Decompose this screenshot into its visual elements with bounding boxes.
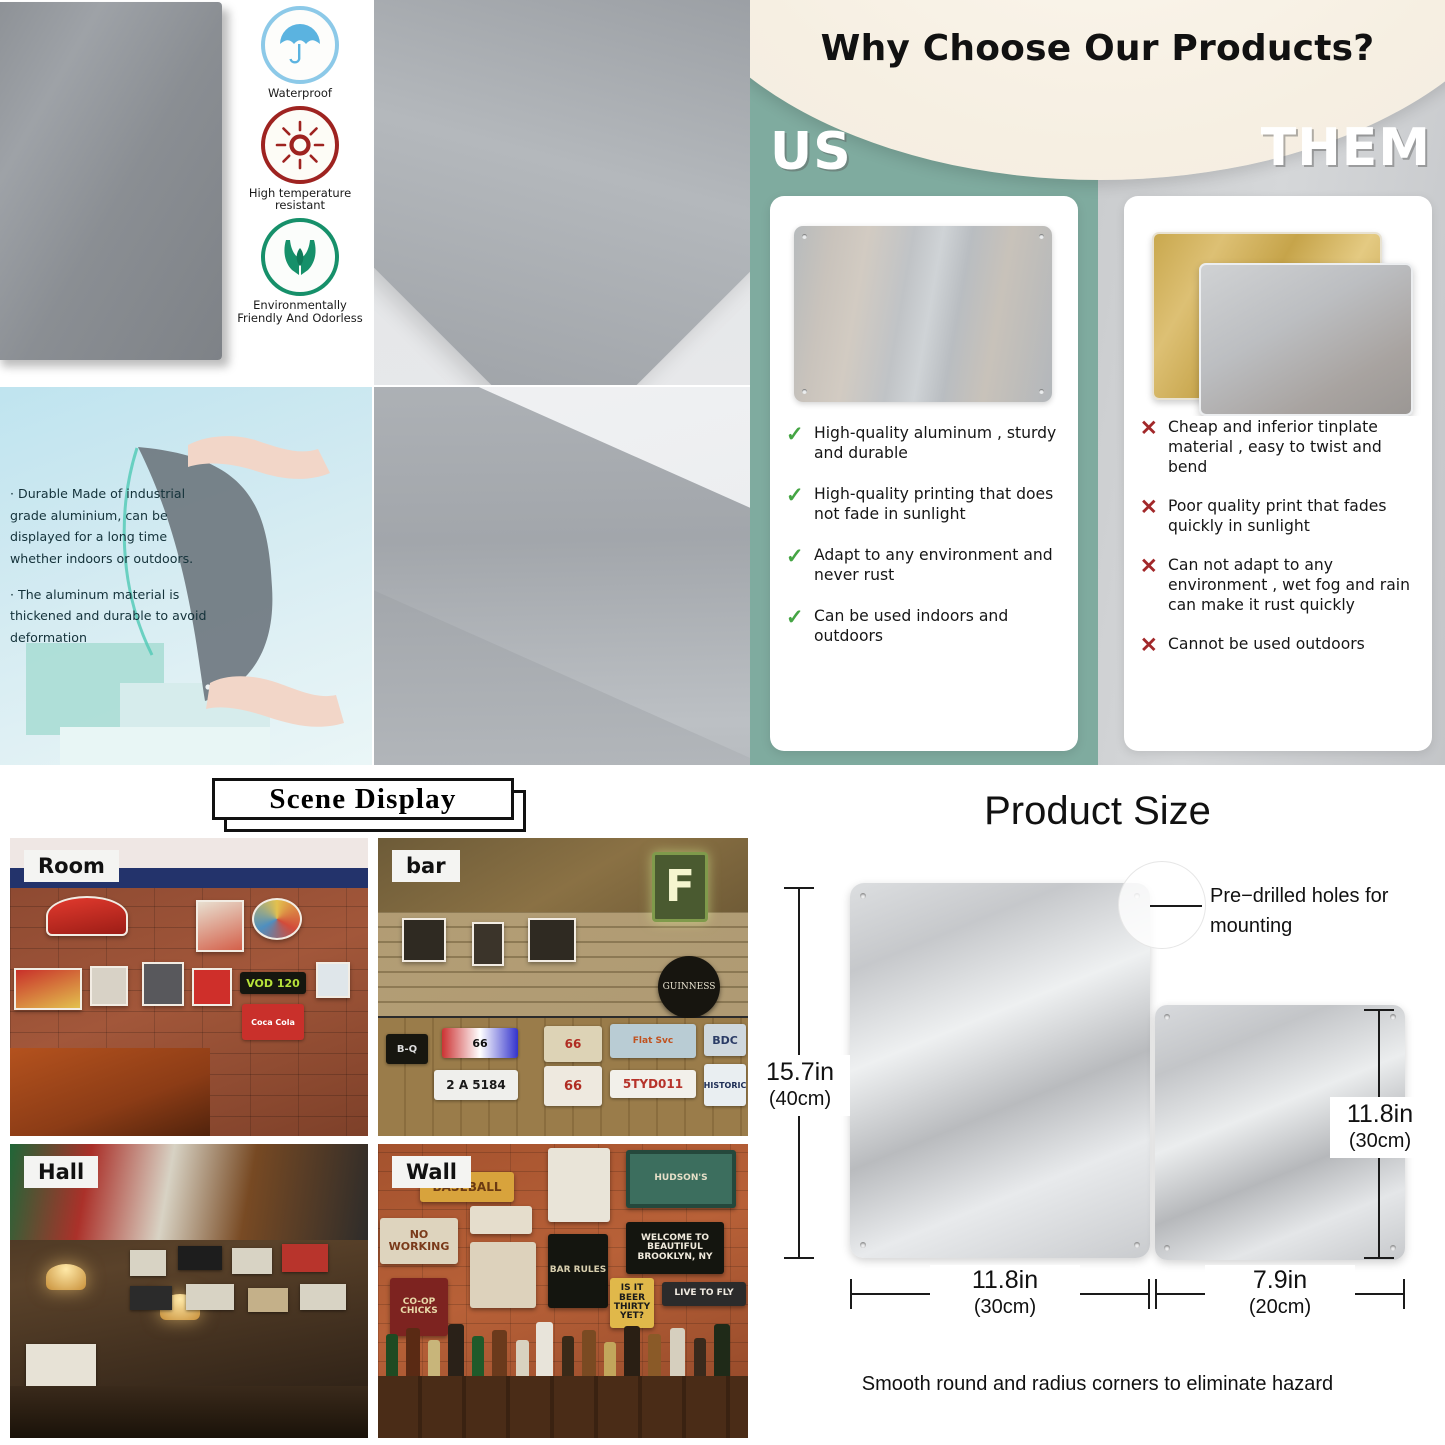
scene-display-title: Scene Display (269, 783, 456, 816)
room-sign-1 (196, 900, 244, 952)
bottle (624, 1326, 640, 1380)
scene-tile-wall: BASEBALL HUDSON'S NO WORKING BAR RULES W… (378, 1144, 748, 1438)
bar-plate-5184: 2 A 5184 (434, 1070, 518, 1100)
room-coke-sign: Coca Cola (242, 1004, 304, 1040)
bar-bdc-plate: BDC (704, 1024, 746, 1056)
corner-safety-note: Smooth round and radius corners to elimi… (750, 1373, 1445, 1396)
silver-tinplate-sign-photo (1199, 263, 1413, 416)
small-width-inches: 7.9in (1205, 1267, 1355, 1295)
feature-list: Waterproof High temperature resistant (232, 6, 368, 330)
small-width-cap-right (1403, 1279, 1405, 1309)
list-item: ✕ Cannot be used outdoors (1140, 635, 1422, 657)
cross-icon: ✕ (1140, 497, 1168, 519)
room-sign-2 (90, 966, 128, 1006)
sun-icon (261, 106, 339, 184)
small-height-label: 11.8in (30cm) (1330, 1097, 1430, 1158)
list-item: ✓ High-quality printing that does not fa… (786, 485, 1068, 525)
bottle (604, 1342, 616, 1380)
large-sign-hole-bl (860, 1242, 866, 1248)
them-drawback-text: Poor quality print that fades quickly in… (1168, 497, 1422, 537)
small-sign-hole-br (1390, 1245, 1396, 1251)
scene-display-section: Scene Display VOD 120 Coca Cola Room (0, 765, 750, 1445)
room-sign-round (252, 898, 302, 940)
comparison-section: Why Choose Our Products? US THEM ✓ High-… (750, 0, 1445, 765)
hall-sign-8 (300, 1284, 346, 1310)
small-sign-hole-bl (1164, 1245, 1170, 1251)
wall-barrules-sign: BAR RULES (548, 1234, 608, 1308)
hall-sign-7 (248, 1288, 288, 1312)
check-icon: ✓ (786, 485, 814, 507)
room-photo: VOD 120 Coca Cola (10, 838, 368, 1136)
hall-sign-5 (130, 1286, 172, 1310)
wall-bus-sign (470, 1206, 532, 1234)
big-height-label: 15.7in (40cm) (750, 1055, 850, 1116)
bar-bbq-sign: B-Q (386, 1034, 428, 1064)
hall-sign-3 (232, 1248, 272, 1274)
small-sign-hole-tr (1390, 1014, 1396, 1020)
us-benefit-text: Adapt to any environment and never rust (814, 546, 1068, 586)
list-item: ✕ Poor quality print that fades quickly … (1140, 497, 1422, 537)
check-icon: ✓ (786, 607, 814, 629)
bar-rack-2 (472, 922, 504, 966)
aluminum-sign-photo (794, 226, 1052, 402)
bar-flathead-sign: Flat Svc (610, 1024, 696, 1058)
big-width-cm: (30cm) (930, 1295, 1080, 1320)
us-header: US (770, 122, 852, 182)
us-benefit-text: High-quality aluminum , sturdy and durab… (814, 424, 1068, 464)
scene-label-hall: Hall (24, 1156, 98, 1188)
wall-livetofly-sign: LIVE TO FLY (662, 1282, 746, 1306)
cross-icon: ✕ (1140, 418, 1168, 440)
bar-route-shield: 66 (544, 1066, 602, 1106)
room-sign-3 (142, 962, 184, 1006)
feature-label-waterproof: Waterproof (232, 87, 368, 100)
wall-photo: BASEBALL HUDSON'S NO WORKING BAR RULES W… (378, 1144, 748, 1438)
list-item: ✓ Can be used indoors and outdoors (786, 607, 1068, 647)
us-benefit-text: High-quality printing that does not fade… (814, 485, 1068, 525)
large-sign-hole-tl (860, 893, 866, 899)
check-icon: ✓ (786, 424, 814, 446)
scene-tile-hall: Hall (10, 1144, 368, 1438)
hands-leaf-icon-svg (275, 234, 325, 280)
wall-brooklyn-sign: WELCOME TO BEAUTIFUL BROOKLYN, NY (626, 1222, 724, 1274)
features-quadrant: Waterproof High temperature resistant (0, 0, 750, 765)
room-desk (10, 1048, 210, 1136)
umbrella-icon (261, 6, 339, 84)
callout-leader-line (1150, 905, 1202, 907)
wall-bottle-row (378, 1314, 748, 1380)
sign-hole-br (1039, 389, 1044, 394)
bar-route66-sign: 66 (544, 1026, 602, 1062)
wall-beer-poster (470, 1242, 536, 1308)
feature-item-heat: High temperature resistant (232, 106, 368, 212)
scene-label-bar: bar (392, 850, 460, 882)
sign-hole-bl (802, 389, 807, 394)
bar-plate-california: 5TYD011 (610, 1070, 696, 1098)
sun-icon-svg (274, 119, 326, 171)
list-item: ✕ Cheap and inferior tinplate material ,… (1140, 418, 1422, 478)
comparison-title: Why Choose Our Products? (750, 28, 1445, 69)
large-sign-hole-br (1134, 1242, 1140, 1248)
scene-label-wall: Wall (392, 1156, 471, 1188)
small-width-cap-left (1155, 1279, 1157, 1309)
list-item: ✓ High-quality aluminum , sturdy and dur… (786, 424, 1068, 464)
scene-label-room: Room (24, 850, 119, 882)
bottle (472, 1336, 484, 1380)
bottle (536, 1322, 553, 1380)
scene-photo-grid: VOD 120 Coca Cola Room F GUINNESS B-Q 66… (10, 838, 748, 1438)
them-drawback-list: ✕ Cheap and inferior tinplate material ,… (1140, 418, 1422, 676)
hall-lamp-1 (46, 1264, 86, 1290)
bottle (448, 1324, 464, 1380)
small-height-cap-top (1364, 1009, 1394, 1011)
small-width-label: 7.9in (20cm) (1205, 1265, 1355, 1322)
bar-historic-plate: HISTORIC (704, 1064, 746, 1106)
room-decor-red (46, 896, 128, 936)
small-height-cm: (30cm) (1330, 1129, 1430, 1154)
scene-display-banner: Scene Display (212, 778, 530, 833)
hands-leaf-icon (261, 218, 339, 296)
wall-hudsons-sign: HUDSON'S (626, 1150, 736, 1208)
small-height-inches: 11.8in (1330, 1101, 1430, 1129)
product-size-title: Product Size (750, 789, 1445, 834)
bar-neon-letter: F (652, 852, 708, 922)
big-width-label: 11.8in (30cm) (930, 1265, 1080, 1322)
hall-sign-2 (178, 1246, 222, 1270)
bottle (670, 1328, 685, 1380)
wall-bar-counter (378, 1376, 748, 1438)
big-width-cap-left (850, 1279, 852, 1309)
them-card: ✕ Cheap and inferior tinplate material ,… (1124, 196, 1432, 751)
them-header: THEM (1261, 118, 1431, 178)
aluminum-sheet-photo-2 (374, 387, 750, 765)
feature-item-waterproof: Waterproof (232, 6, 368, 100)
bottle (648, 1334, 661, 1380)
room-sign-4 (192, 968, 232, 1006)
us-card: ✓ High-quality aluminum , sturdy and dur… (770, 196, 1078, 751)
aluminum-plate-photo (0, 2, 222, 360)
scene-tile-bar: F GUINNESS B-Q 66 66 Flat Svc BDC 2 A 51… (378, 838, 748, 1136)
bar-rack-1 (402, 918, 446, 962)
check-icon: ✓ (786, 546, 814, 568)
big-height-cap-top (784, 887, 814, 889)
bar-guinness-sign: GUINNESS (658, 956, 720, 1018)
cross-icon: ✕ (1140, 556, 1168, 578)
hall-sign-6 (186, 1284, 234, 1310)
big-height-inches: 15.7in (750, 1059, 850, 1087)
bottle (386, 1334, 398, 1380)
bottle (582, 1330, 596, 1380)
product-size-section: Product Size Pre−drilled holes for mount… (750, 765, 1445, 1445)
hall-sign-1 (130, 1250, 166, 1276)
scene-tile-room: VOD 120 Coca Cola Room (10, 838, 368, 1136)
bottle (428, 1340, 440, 1380)
them-drawback-text: Can not adapt to any environment , wet f… (1168, 556, 1422, 616)
aluminum-sheet-photo-1 (374, 0, 750, 385)
us-benefit-list: ✓ High-quality aluminum , sturdy and dur… (786, 424, 1068, 668)
feature-item-eco: Environmentally Friendly And Odorless (232, 218, 368, 324)
durability-bullet-2: · The aluminum material is thickened and… (10, 584, 210, 649)
hall-floor (10, 1386, 368, 1438)
big-height-cm: (40cm) (750, 1087, 850, 1112)
sign-hole-tr (1039, 234, 1044, 239)
room-sign-car (14, 968, 82, 1010)
large-sign-diagram (850, 883, 1150, 1258)
metal-sheet-diagonal (374, 0, 750, 385)
room-license-plate: VOD 120 (240, 972, 306, 994)
bottle (406, 1328, 420, 1380)
big-height-cap-bottom (784, 1257, 814, 1259)
durability-text: · Durable Made of industrial grade alumi… (10, 483, 210, 663)
bottle (714, 1324, 730, 1380)
durability-bullet-1: · Durable Made of industrial grade alumi… (10, 483, 210, 570)
feature-label-heat: High temperature resistant (232, 187, 368, 212)
hall-photo (10, 1144, 368, 1438)
small-width-cm: (20cm) (1205, 1295, 1355, 1320)
bottle (516, 1340, 529, 1380)
bar-rack-3 (528, 918, 576, 962)
bar-sign-66: 66 (442, 1028, 518, 1058)
banner-frame: Scene Display (212, 778, 514, 820)
feature-label-eco: Environmentally Friendly And Odorless (232, 299, 368, 324)
hall-sign-4 (282, 1244, 328, 1272)
wall-noworking-sign: NO WORKING (380, 1218, 458, 1264)
bottle (694, 1338, 706, 1380)
them-drawback-text: Cannot be used outdoors (1168, 635, 1365, 655)
bend-demo-panel: · Durable Made of industrial grade alumi… (0, 387, 372, 765)
room-sign-5 (316, 962, 350, 998)
them-product-image (1124, 210, 1432, 416)
bottle (492, 1330, 507, 1380)
small-sign-hole-tl (1164, 1014, 1170, 1020)
big-width-cap-right (1148, 1279, 1150, 1309)
umbrella-icon-svg (276, 22, 324, 68)
us-product-image (770, 210, 1078, 416)
small-height-cap-bottom (1364, 1257, 1394, 1259)
predrilled-holes-label: Pre−drilled holes for mounting (1210, 881, 1440, 941)
them-drawback-text: Cheap and inferior tinplate material , e… (1168, 418, 1422, 478)
bar-photo: F GUINNESS B-Q 66 66 Flat Svc BDC 2 A 51… (378, 838, 748, 1136)
feature-icons-panel: Waterproof High temperature resistant (0, 0, 372, 385)
wall-poster-1 (548, 1148, 610, 1222)
sign-hole-tl (802, 234, 807, 239)
list-item: ✕ Can not adapt to any environment , wet… (1140, 556, 1422, 616)
bottle (562, 1336, 574, 1380)
list-item: ✓ Adapt to any environment and never rus… (786, 546, 1068, 586)
us-benefit-text: Can be used indoors and outdoors (814, 607, 1068, 647)
cross-icon: ✕ (1140, 635, 1168, 657)
big-width-inches: 11.8in (930, 1267, 1080, 1295)
